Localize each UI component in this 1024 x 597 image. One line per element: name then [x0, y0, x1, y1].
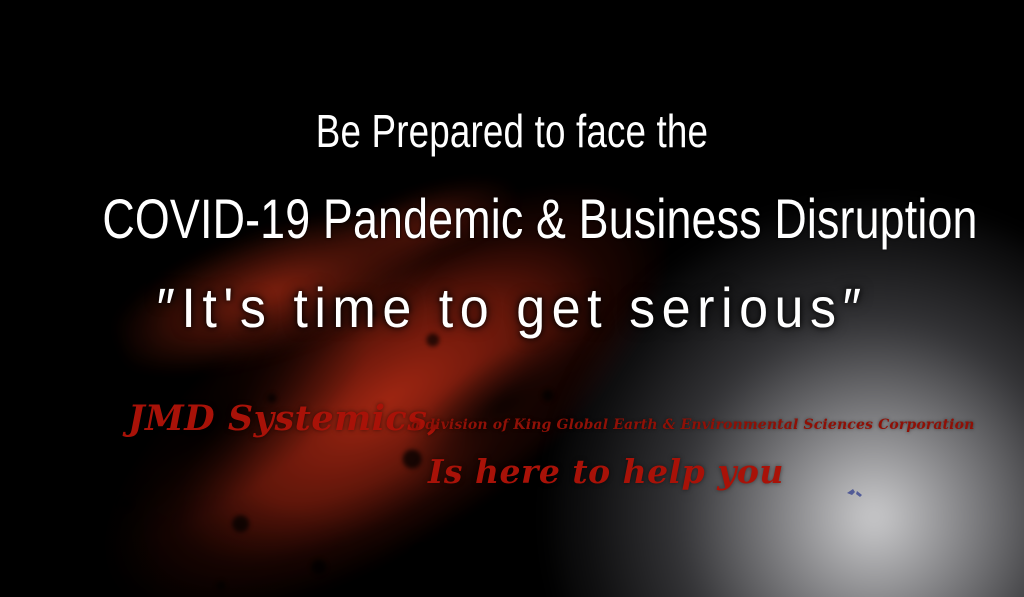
blue-fleck-mark [846, 486, 868, 499]
banner-canvas: Be Prepared to face the COVID-19 Pandemi… [0, 0, 1024, 597]
